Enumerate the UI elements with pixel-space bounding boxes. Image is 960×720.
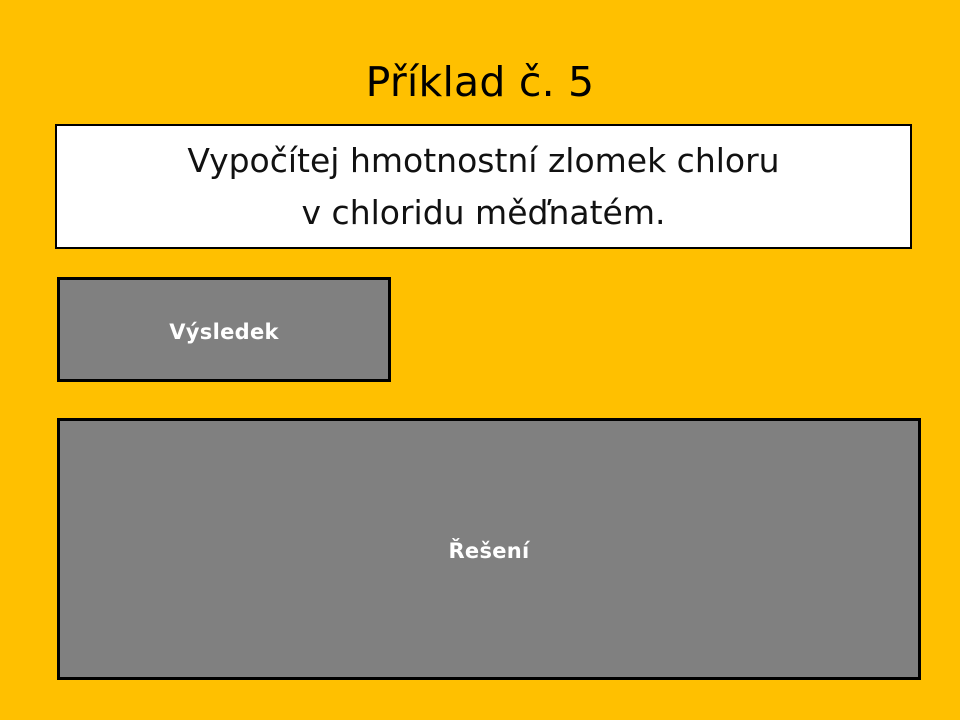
- solution-button[interactable]: Řešení: [57, 418, 921, 680]
- page-title: Příklad č. 5: [0, 58, 960, 106]
- solution-button-label: Řešení: [60, 539, 918, 563]
- question-line-2: v chloridu měďnatém.: [302, 187, 666, 239]
- question-box: Vypočítej hmotnostní zlomek chloru v chl…: [55, 124, 912, 249]
- result-button-label: Výsledek: [60, 320, 388, 344]
- presentation-slide: Příklad č. 5 Vypočítej hmotnostní zlomek…: [0, 0, 960, 720]
- question-line-1: Vypočítej hmotnostní zlomek chloru: [187, 135, 779, 187]
- result-button[interactable]: Výsledek: [57, 277, 391, 382]
